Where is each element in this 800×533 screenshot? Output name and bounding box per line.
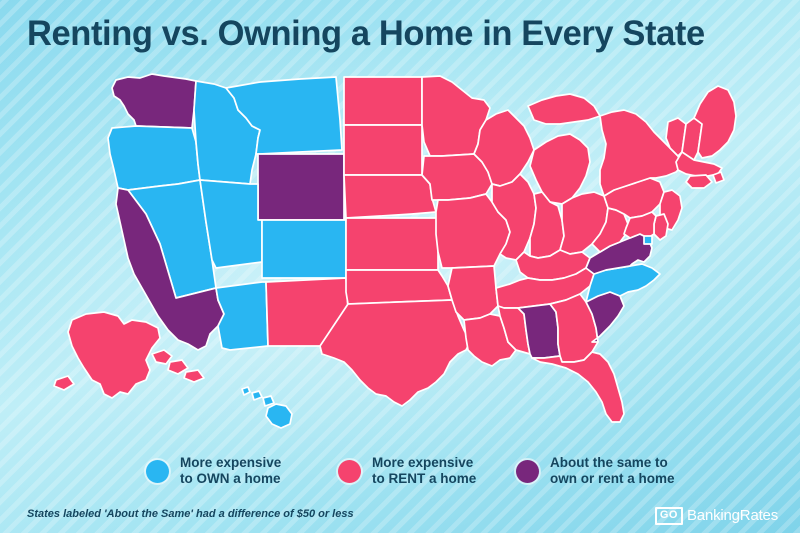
legend-same-line2: own or rent a home [550, 471, 675, 487]
state-FL[interactable] [532, 352, 624, 422]
state-WA[interactable] [112, 74, 196, 128]
legend-own-line1: More expensive [180, 455, 281, 471]
state-SD[interactable] [344, 125, 422, 175]
state-CT[interactable] [686, 175, 712, 188]
state-DC[interactable] [644, 236, 652, 244]
state-RI[interactable] [713, 172, 724, 183]
legend-item-same[interactable]: About the same to own or rent a home [516, 455, 675, 487]
state-ME[interactable] [694, 86, 736, 158]
state-NE[interactable] [344, 175, 436, 218]
logo-mark: GO [655, 507, 683, 525]
page-title: Renting vs. Owning a Home in Every State [27, 14, 705, 54]
state-AZ[interactable] [216, 282, 268, 350]
legend-item-own[interactable]: More expensive to OWN a home [146, 455, 281, 487]
legend-label-same: About the same to own or rent a home [550, 455, 675, 487]
state-TX[interactable] [320, 300, 470, 406]
legend: More expensive to OWN a home More expens… [0, 452, 800, 494]
state-CO[interactable] [262, 220, 346, 278]
state-OK[interactable] [346, 270, 452, 304]
brand-logo[interactable]: GO BankingRates [655, 506, 778, 525]
legend-swatch-rent-icon [338, 460, 361, 483]
state-WY[interactable] [258, 154, 344, 220]
legend-swatch-same-icon [516, 460, 539, 483]
state-KS[interactable] [346, 218, 438, 270]
state-MA[interactable] [676, 152, 722, 176]
legend-item-rent[interactable]: More expensive to RENT a home [338, 455, 476, 487]
state-HI[interactable] [242, 387, 292, 428]
state-MI[interactable] [528, 94, 600, 204]
state-ND[interactable] [344, 77, 422, 125]
state-AR[interactable] [448, 266, 498, 320]
logo-wordmark: BankingRates [687, 507, 778, 524]
legend-label-rent: More expensive to RENT a home [372, 455, 476, 487]
legend-label-own: More expensive to OWN a home [180, 455, 281, 487]
legend-swatch-own-icon [146, 460, 169, 483]
legend-own-line2: to OWN a home [180, 471, 281, 487]
legend-rent-line1: More expensive [372, 455, 476, 471]
us-map-svg [0, 62, 800, 437]
legend-same-line1: About the same to [550, 455, 675, 471]
state-OR[interactable] [108, 126, 200, 190]
footnote: States labeled 'About the Same' had a di… [27, 508, 354, 520]
us-choropleth-map [0, 62, 800, 437]
legend-rent-line2: to RENT a home [372, 471, 476, 487]
infographic-canvas: Renting vs. Owning a Home in Every State [0, 0, 800, 533]
